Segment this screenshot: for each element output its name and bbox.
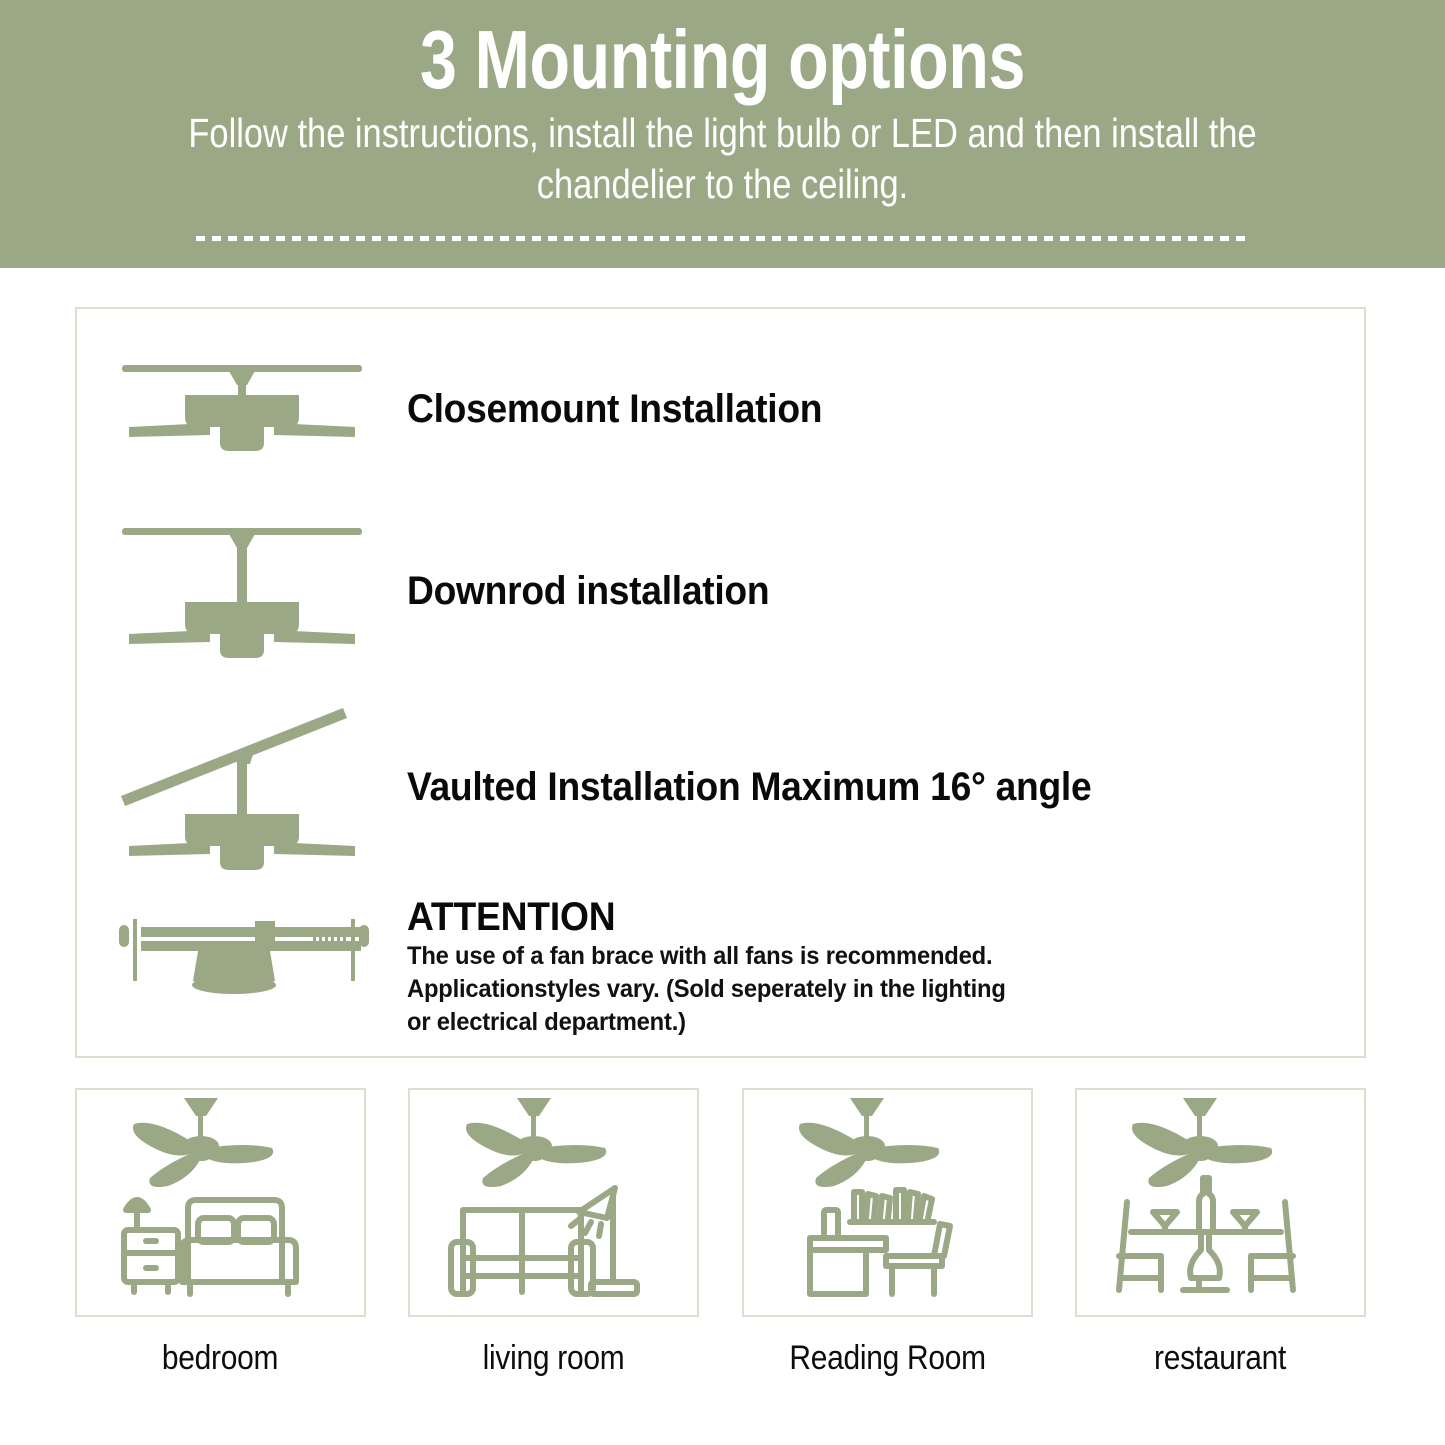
living-room-icon (429, 1090, 679, 1315)
vaulted-fan-icon (77, 700, 407, 875)
restaurant-icon (1095, 1090, 1345, 1315)
room-card-living-room: living room (408, 1088, 699, 1378)
page-subtitle: Follow the instructions, install the lig… (116, 108, 1330, 210)
mounting-row-downrod: Downrod installation (77, 509, 1364, 674)
closemount-fan-icon (77, 359, 407, 459)
attention-line-1: The use of a fan brace with all fans is … (407, 940, 1006, 973)
dashed-divider (196, 236, 1249, 241)
mounting-row-closemount: Closemount Installation (77, 344, 1364, 474)
downrod-fan-icon (77, 522, 407, 662)
attention-line-3: or electrical department.) (407, 1006, 1006, 1039)
fan-brace-icon (77, 889, 407, 999)
room-card-restaurant: restaurant (1075, 1088, 1366, 1378)
page-title: 3 Mounting options (145, 14, 1301, 106)
restaurant-card-box (1075, 1088, 1366, 1317)
room-card-reading-room: Reading Room (742, 1088, 1033, 1378)
room-card-bedroom: bedroom (75, 1088, 366, 1378)
attention-text-block: ATTENTION The use of a fan brace with al… (407, 889, 1037, 1039)
bedroom-card-box (75, 1088, 366, 1317)
room-cards: bedroom (75, 1088, 1366, 1378)
room-caption-restaurant: restaurant (1154, 1339, 1286, 1378)
mounting-options-panel: Closemount Installation (75, 307, 1366, 1058)
attention-title: ATTENTION (407, 895, 993, 940)
mounting-label-vaulted: Vaulted Installation Maximum 16° angle (407, 765, 1091, 810)
mounting-label-downrod: Downrod installation (407, 569, 769, 614)
bedroom-icon (96, 1090, 346, 1315)
living-room-card-box (408, 1088, 699, 1317)
header-banner: 3 Mounting options Follow the instructio… (0, 0, 1445, 268)
mounting-row-vaulted: Vaulted Installation Maximum 16° angle (77, 687, 1364, 887)
reading-room-card-box (742, 1088, 1033, 1317)
room-caption-living-room: living room (483, 1339, 625, 1378)
room-caption-bedroom: bedroom (162, 1339, 278, 1378)
room-caption-reading-room: Reading Room (789, 1339, 985, 1378)
attention-row: ATTENTION The use of a fan brace with al… (77, 889, 1364, 1049)
mounting-label-closemount: Closemount Installation (407, 387, 822, 432)
reading-room-icon (762, 1090, 1012, 1315)
attention-line-2: Applicationstyles vary. (Sold seperately… (407, 973, 1006, 1006)
infographic-page: 3 Mounting options Follow the instructio… (0, 0, 1445, 1445)
